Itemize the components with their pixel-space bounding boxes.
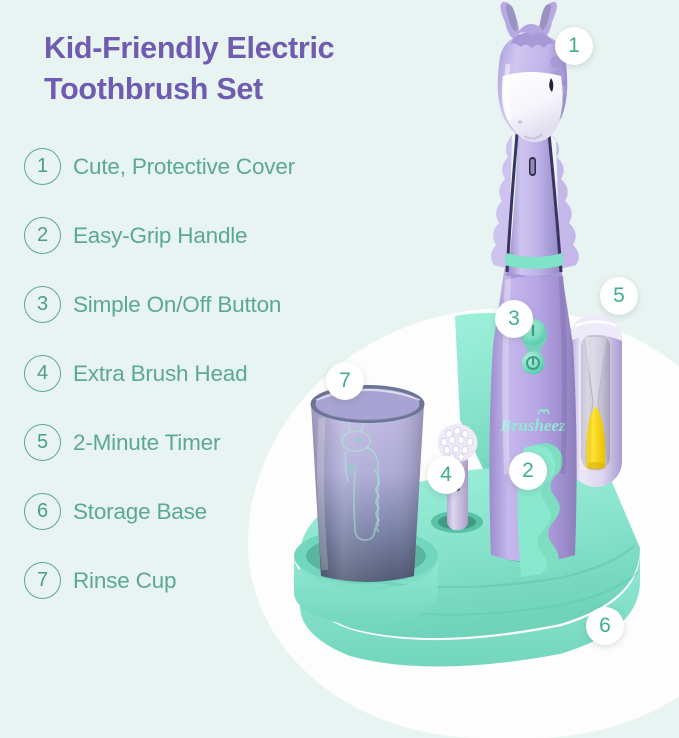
- feature-label: Cute, Protective Cover: [73, 154, 295, 180]
- feature-item-handle: 2 Easy-Grip Handle: [24, 201, 394, 270]
- feature-item-button: 3 Simple On/Off Button: [24, 270, 394, 339]
- feature-label: Easy-Grip Handle: [73, 223, 247, 249]
- callout-badge-4: 4: [427, 456, 465, 494]
- page-title-line-1: Kid-Friendly Electric: [44, 28, 404, 69]
- llama-protective-cover: [498, 2, 568, 142]
- feature-label: Simple On/Off Button: [73, 292, 281, 318]
- callout-badge-7: 7: [326, 362, 364, 400]
- callout-badge-1: 1: [555, 27, 593, 65]
- feature-label: Storage Base: [73, 499, 207, 525]
- page-title-line-2: Toothbrush Set: [44, 69, 404, 110]
- feature-number-badge: 5: [24, 424, 61, 461]
- callout-badge-6: 6: [586, 607, 624, 645]
- feature-item-timer: 5 2-Minute Timer: [24, 408, 394, 477]
- feature-number-badge: 2: [24, 217, 61, 254]
- feature-item-cover: 1 Cute, Protective Cover: [24, 132, 394, 201]
- feature-item-rinse-cup: 7 Rinse Cup: [24, 546, 394, 615]
- feature-label: Rinse Cup: [73, 568, 176, 594]
- llama-neck: [491, 132, 579, 276]
- feature-number-badge: 4: [24, 355, 61, 392]
- callout-badge-5: 5: [600, 277, 638, 315]
- callout-badge-3: 3: [495, 300, 533, 338]
- two-minute-timer: [570, 315, 622, 487]
- brand-logo: Brusheez: [499, 416, 566, 435]
- feature-label: 2-Minute Timer: [73, 430, 220, 456]
- feature-number-badge: 3: [24, 286, 61, 323]
- feature-label: Extra Brush Head: [73, 361, 247, 387]
- feature-item-storage-base: 6 Storage Base: [24, 477, 394, 546]
- callout-badge-2: 2: [509, 452, 547, 490]
- feature-number-badge: 7: [24, 562, 61, 599]
- feature-number-badge: 6: [24, 493, 61, 530]
- feature-number-badge: 1: [24, 148, 61, 185]
- page-title: Kid-Friendly Electric Toothbrush Set: [44, 28, 404, 109]
